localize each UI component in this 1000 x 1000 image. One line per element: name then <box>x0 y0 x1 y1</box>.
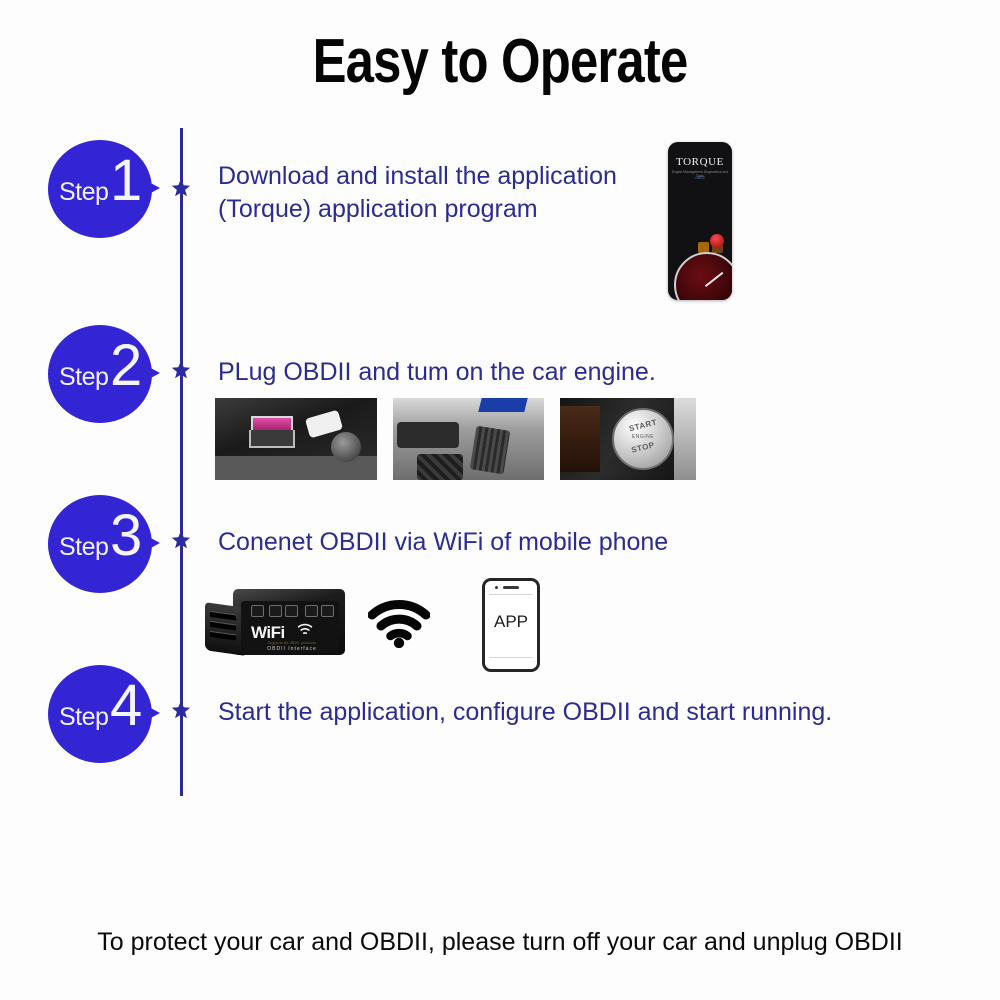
step-label: Step <box>59 703 108 732</box>
adapter-interface-label: OBDII Interface <box>249 646 335 652</box>
step-description-4: Start the application, configure OBDII a… <box>218 696 978 729</box>
step-description-2: PLug OBDII and tum on the car engine. <box>218 356 918 389</box>
page-title: Easy to Operate <box>90 26 910 97</box>
adapter-brand-label: WiFi <box>251 623 285 643</box>
phone-speaker-notch <box>503 586 519 589</box>
step-description-1: Download and install the application (To… <box>218 160 658 226</box>
photo-obdii-port <box>215 398 377 480</box>
obdii-plug-connector <box>205 602 245 656</box>
step-number: 2 <box>110 337 142 395</box>
obdii-wifi-adapter-image: WiFi Supports All OBDII protocols OBDII … <box>205 585 345 663</box>
timeline-star-marker-4 <box>170 699 192 721</box>
photo-car-pedals <box>393 398 544 480</box>
wifi-signal-icon <box>368 598 430 648</box>
torque-gauge-icon-red <box>710 234 724 248</box>
torque-dial-gauge <box>674 252 732 300</box>
engine-start-stop-button-graphic: START ENGINE STOP <box>612 408 674 470</box>
step-number: 4 <box>110 677 142 735</box>
adapter-sub-line: Supports All OBDII protocols <box>249 641 335 645</box>
phone-camera-dot-icon <box>495 586 498 589</box>
torque-app-subtitle-2: OBD2 <box>668 176 732 180</box>
step-badge-1: Step 1 <box>48 140 156 238</box>
footer-note: To protect your car and OBDII, please tu… <box>0 928 1000 957</box>
timeline-star-marker-2 <box>170 359 192 381</box>
app-phone-outline: APP <box>482 578 540 672</box>
infographic-page: Easy to Operate Step 1 Download and inst… <box>0 0 1000 1000</box>
step-number: 3 <box>110 507 142 565</box>
torque-app-phone-image: TORQUE Engine Management Diagnostics and… <box>668 142 732 300</box>
step-label: Step <box>59 533 108 562</box>
timeline-star-marker-3 <box>170 529 192 551</box>
step-label: Step <box>59 363 108 392</box>
torque-app-title: TORQUE <box>668 156 732 168</box>
step-number: 1 <box>110 152 142 210</box>
step-badge-2: Step 2 <box>48 325 156 423</box>
photo-start-stop-button: START ENGINE STOP <box>560 398 696 480</box>
app-label: APP <box>485 612 537 632</box>
adapter-wifi-icon <box>297 623 313 637</box>
timeline-spine <box>180 128 183 796</box>
adapter-led-indicators <box>251 605 331 617</box>
step-description-3: Conenet OBDII via WiFi of mobile phone <box>218 526 918 559</box>
timeline-star-marker-1 <box>170 177 192 199</box>
step-badge-4: Step 4 <box>48 665 156 763</box>
step-label: Step <box>59 178 108 207</box>
step-badge-3: Step 3 <box>48 495 156 593</box>
